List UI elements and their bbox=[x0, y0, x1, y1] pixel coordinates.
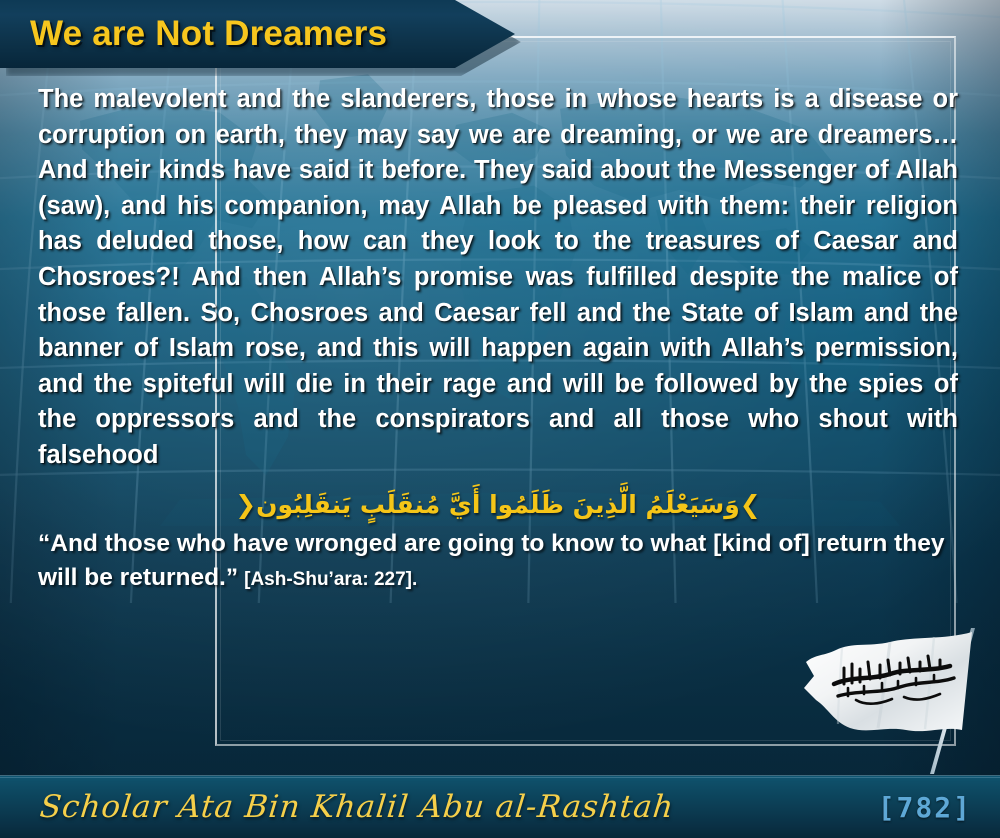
ayah-translation-text: “And those who have wronged are going to… bbox=[38, 530, 945, 591]
quran-ayah-arabic: ❯وَسَيَعْلَمُ الَّذِينَ ظَلَمُوا أَيَّ م… bbox=[38, 488, 958, 522]
page-title: We are Not Dreamers bbox=[30, 14, 387, 54]
page-number: [782] bbox=[878, 791, 972, 824]
ayah-citation: [Ash-Shu’ara: 227]. bbox=[238, 569, 417, 590]
author-name: Scholar Ata Bin Khalil Abu al-Rashtah bbox=[38, 789, 676, 825]
slide-root: We are Not Dreamers The malevolent and t… bbox=[0, 0, 1000, 838]
ar-rayah-flag bbox=[794, 626, 994, 776]
footer-bar: Scholar Ata Bin Khalil Abu al-Rashtah [7… bbox=[0, 775, 1000, 838]
content-area: The malevolent and the slanderers, those… bbox=[38, 82, 958, 597]
title-banner: We are Not Dreamers bbox=[0, 0, 515, 68]
ayah-translation: “And those who have wronged are going to… bbox=[38, 527, 958, 597]
body-paragraph: The malevolent and the slanderers, those… bbox=[38, 82, 958, 474]
